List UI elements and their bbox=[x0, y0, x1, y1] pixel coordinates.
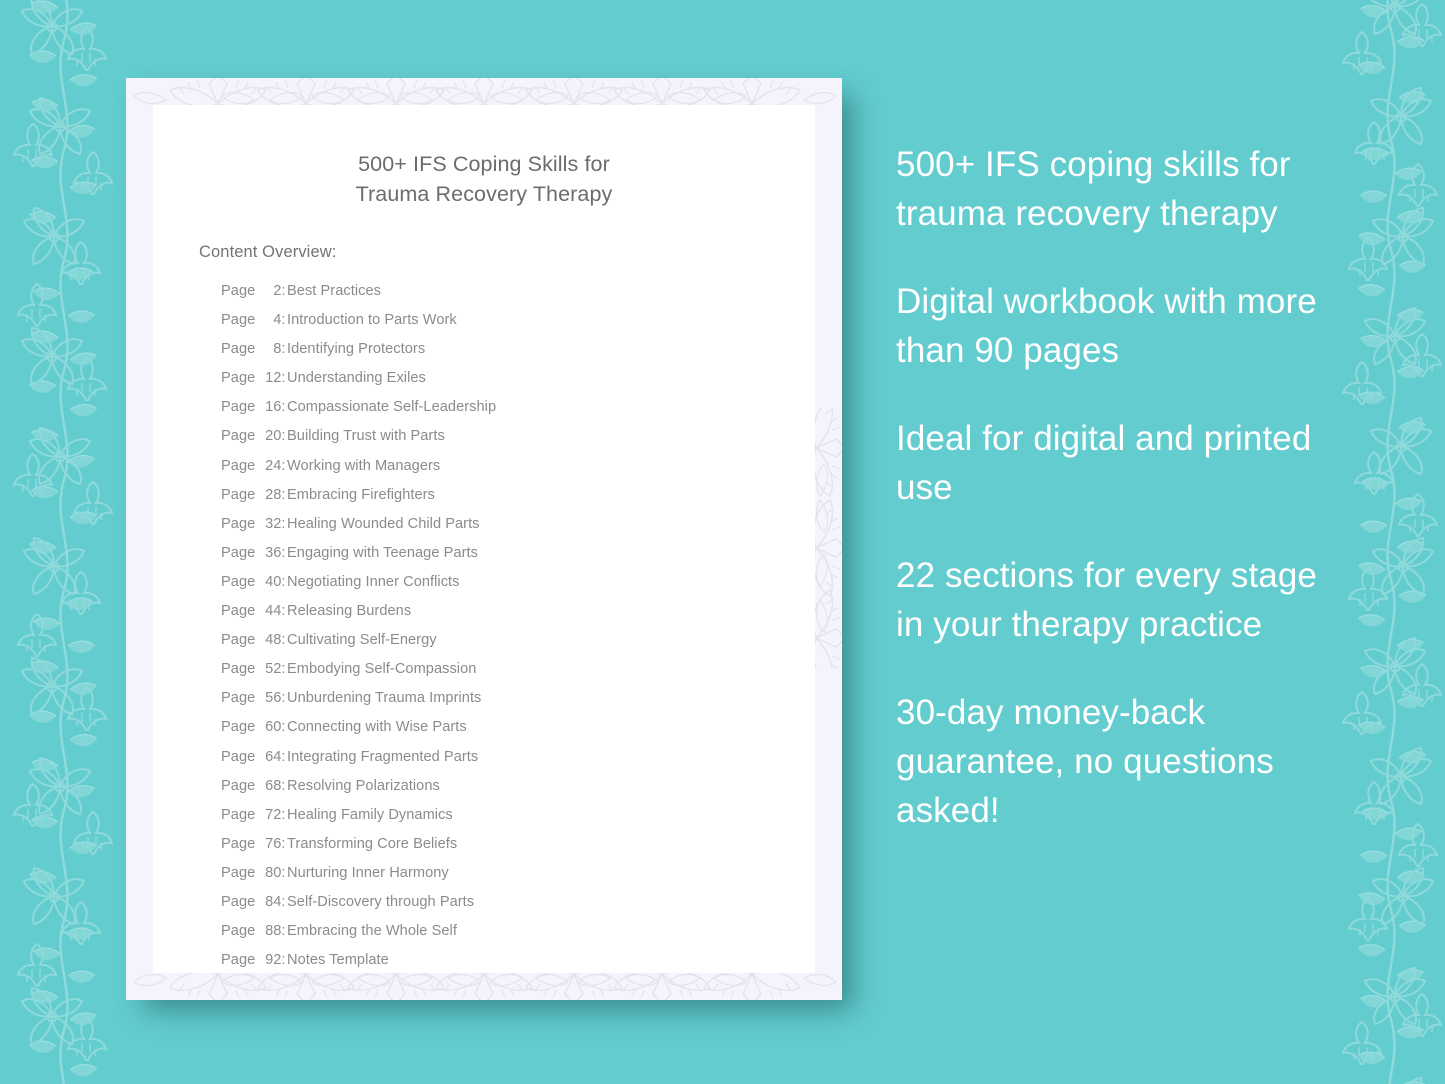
floral-vine-icon-right bbox=[1313, 0, 1445, 1084]
toc-section-title: Releasing Burdens bbox=[287, 603, 795, 619]
table-of-contents-row[interactable]: Page 4:Introduction to Parts Work bbox=[221, 312, 795, 341]
toc-page-value: 56 bbox=[259, 690, 281, 706]
toc-page-number: Page 24: bbox=[221, 458, 287, 474]
toc-page-word: Page bbox=[221, 487, 255, 503]
toc-page-number: Page 64: bbox=[221, 749, 287, 765]
table-of-contents-row[interactable]: Page 60:Connecting with Wise Parts bbox=[221, 719, 795, 748]
table-of-contents-row[interactable]: Page 16:Compassionate Self-Leadership bbox=[221, 399, 795, 428]
toc-page-value: 36 bbox=[259, 545, 281, 561]
toc-section-title: Best Practices bbox=[287, 283, 795, 299]
toc-page-value: 16 bbox=[259, 399, 281, 415]
toc-section-title: Healing Family Dynamics bbox=[287, 807, 795, 823]
toc-page-word: Page bbox=[221, 516, 255, 532]
table-of-contents-row[interactable]: Page 28:Embracing Firefighters bbox=[221, 487, 795, 516]
toc-section-title: Introduction to Parts Work bbox=[287, 312, 795, 328]
toc-section-title: Identifying Protectors bbox=[287, 341, 795, 357]
toc-section-title: Embodying Self-Compassion bbox=[287, 661, 795, 677]
toc-page-number: Page 32: bbox=[221, 516, 287, 532]
toc-section-title: Working with Managers bbox=[287, 458, 795, 474]
toc-page-word: Page bbox=[221, 341, 255, 357]
toc-section-title: Healing Wounded Child Parts bbox=[287, 516, 795, 532]
toc-page-value: 72 bbox=[259, 807, 281, 823]
toc-page-word: Page bbox=[221, 603, 255, 619]
toc-section-title: Unburdening Trauma Imprints bbox=[287, 690, 795, 706]
toc-page-number: Page 56: bbox=[221, 690, 287, 706]
toc-page-number: Page 8: bbox=[221, 341, 287, 357]
toc-section-title: Building Trust with Parts bbox=[287, 428, 795, 444]
marketing-bullet: Ideal for digital and printed use bbox=[896, 414, 1326, 512]
table-of-contents-row[interactable]: Page 2:Best Practices bbox=[221, 283, 795, 312]
table-of-contents-row[interactable]: Page 40:Negotiating Inner Conflicts bbox=[221, 574, 795, 603]
toc-page-value: 44 bbox=[259, 603, 281, 619]
toc-page-word: Page bbox=[221, 690, 255, 706]
document-page: 500+ IFS Coping Skills for Trauma Recove… bbox=[153, 105, 815, 973]
toc-page-word: Page bbox=[221, 807, 255, 823]
toc-page-number: Page 88: bbox=[221, 923, 287, 939]
toc-section-title: Cultivating Self-Energy bbox=[287, 632, 795, 648]
marketing-bullet: 30-day money-back guarantee, no question… bbox=[896, 688, 1326, 835]
toc-page-number: Page 12: bbox=[221, 370, 287, 386]
toc-page-number: Page 76: bbox=[221, 836, 287, 852]
toc-section-title: Transforming Core Beliefs bbox=[287, 836, 795, 852]
table-of-contents-row[interactable]: Page 92:Notes Template bbox=[221, 952, 795, 981]
toc-page-number: Page 72: bbox=[221, 807, 287, 823]
toc-page-value: 12 bbox=[259, 370, 281, 386]
table-of-contents: Page 2:Best PracticesPage 4:Introduction… bbox=[221, 283, 795, 981]
toc-page-number: Page 52: bbox=[221, 661, 287, 677]
toc-page-number: Page 2: bbox=[221, 283, 287, 299]
toc-page-word: Page bbox=[221, 312, 255, 328]
toc-page-word: Page bbox=[221, 719, 255, 735]
mandala-watermark-icon-top bbox=[126, 78, 842, 108]
table-of-contents-row[interactable]: Page 8:Identifying Protectors bbox=[221, 341, 795, 370]
toc-page-number: Page 36: bbox=[221, 545, 287, 561]
content-overview-label: Content Overview: bbox=[199, 243, 336, 262]
table-of-contents-row[interactable]: Page 72:Healing Family Dynamics bbox=[221, 807, 795, 836]
toc-page-word: Page bbox=[221, 952, 255, 968]
toc-page-number: Page 40: bbox=[221, 574, 287, 590]
toc-section-title: Negotiating Inner Conflicts bbox=[287, 574, 795, 590]
toc-page-word: Page bbox=[221, 661, 255, 677]
toc-page-number: Page 84: bbox=[221, 894, 287, 910]
toc-page-word: Page bbox=[221, 865, 255, 881]
table-of-contents-row[interactable]: Page 52:Embodying Self-Compassion bbox=[221, 661, 795, 690]
table-of-contents-row[interactable]: Page 56:Unburdening Trauma Imprints bbox=[221, 690, 795, 719]
toc-page-number: Page 20: bbox=[221, 428, 287, 444]
toc-page-number: Page 60: bbox=[221, 719, 287, 735]
toc-page-number: Page 80: bbox=[221, 865, 287, 881]
table-of-contents-row[interactable]: Page 32:Healing Wounded Child Parts bbox=[221, 516, 795, 545]
toc-page-number: Page 92: bbox=[221, 952, 287, 968]
toc-page-value: 48 bbox=[259, 632, 281, 648]
toc-page-value: 20 bbox=[259, 428, 281, 444]
marketing-bullet: 22 sections for every stage in your ther… bbox=[896, 551, 1326, 649]
toc-page-value: 76 bbox=[259, 836, 281, 852]
table-of-contents-row[interactable]: Page 36:Engaging with Teenage Parts bbox=[221, 545, 795, 574]
marketing-bullet-list: 500+ IFS coping skills for trauma recove… bbox=[896, 140, 1326, 835]
toc-section-title: Self-Discovery through Parts bbox=[287, 894, 795, 910]
toc-page-value: 64 bbox=[259, 749, 281, 765]
toc-section-title: Nurturing Inner Harmony bbox=[287, 865, 795, 881]
toc-section-title: Connecting with Wise Parts bbox=[287, 719, 795, 735]
table-of-contents-row[interactable]: Page 12:Understanding Exiles bbox=[221, 370, 795, 399]
toc-page-word: Page bbox=[221, 428, 255, 444]
toc-page-word: Page bbox=[221, 923, 255, 939]
toc-page-word: Page bbox=[221, 749, 255, 765]
toc-section-title: Resolving Polarizations bbox=[287, 778, 795, 794]
table-of-contents-row[interactable]: Page 68:Resolving Polarizations bbox=[221, 778, 795, 807]
toc-page-word: Page bbox=[221, 399, 255, 415]
table-of-contents-row[interactable]: Page 64:Integrating Fragmented Parts bbox=[221, 749, 795, 778]
toc-page-word: Page bbox=[221, 574, 255, 590]
toc-section-title: Notes Template bbox=[287, 952, 795, 968]
toc-page-value: 88 bbox=[259, 923, 281, 939]
toc-page-number: Page 28: bbox=[221, 487, 287, 503]
toc-page-word: Page bbox=[221, 370, 255, 386]
toc-page-value: 2 bbox=[259, 283, 281, 299]
toc-page-word: Page bbox=[221, 283, 255, 299]
page-title: 500+ IFS Coping Skills for Trauma Recove… bbox=[153, 150, 815, 209]
table-of-contents-row[interactable]: Page 76:Transforming Core Beliefs bbox=[221, 836, 795, 865]
table-of-contents-row[interactable]: Page 88:Embracing the Whole Self bbox=[221, 923, 795, 952]
toc-page-value: 8 bbox=[259, 341, 281, 357]
toc-page-word: Page bbox=[221, 836, 255, 852]
table-of-contents-row[interactable]: Page 24:Working with Managers bbox=[221, 458, 795, 487]
toc-page-number: Page 68: bbox=[221, 778, 287, 794]
toc-page-value: 80 bbox=[259, 865, 281, 881]
floral-vine-icon-left bbox=[2, 0, 142, 1084]
toc-page-value: 40 bbox=[259, 574, 281, 590]
toc-page-word: Page bbox=[221, 894, 255, 910]
toc-page-word: Page bbox=[221, 545, 255, 561]
poster-canvas: 500+ IFS Coping Skills for Trauma Recove… bbox=[0, 0, 1445, 1084]
toc-section-title: Understanding Exiles bbox=[287, 370, 795, 386]
toc-page-value: 92 bbox=[259, 952, 281, 968]
toc-section-title: Embracing Firefighters bbox=[287, 487, 795, 503]
toc-page-number: Page 4: bbox=[221, 312, 287, 328]
table-of-contents-row[interactable]: Page 44:Releasing Burdens bbox=[221, 603, 795, 632]
toc-page-value: 60 bbox=[259, 719, 281, 735]
toc-page-number: Page 16: bbox=[221, 399, 287, 415]
toc-page-word: Page bbox=[221, 458, 255, 474]
toc-page-value: 84 bbox=[259, 894, 281, 910]
toc-page-value: 68 bbox=[259, 778, 281, 794]
document-card: 500+ IFS Coping Skills for Trauma Recove… bbox=[126, 78, 842, 1000]
mandala-watermark-icon-right bbox=[812, 408, 842, 668]
toc-section-title: Integrating Fragmented Parts bbox=[287, 749, 795, 765]
marketing-bullet: Digital workbook with more than 90 pages bbox=[896, 277, 1326, 375]
toc-section-title: Embracing the Whole Self bbox=[287, 923, 795, 939]
toc-page-word: Page bbox=[221, 632, 255, 648]
toc-section-title: Engaging with Teenage Parts bbox=[287, 545, 795, 561]
toc-page-value: 28 bbox=[259, 487, 281, 503]
toc-page-value: 52 bbox=[259, 661, 281, 677]
toc-page-number: Page 48: bbox=[221, 632, 287, 648]
toc-page-word: Page bbox=[221, 778, 255, 794]
marketing-bullet: 500+ IFS coping skills for trauma recove… bbox=[896, 140, 1326, 238]
toc-page-number: Page 44: bbox=[221, 603, 287, 619]
table-of-contents-row[interactable]: Page 80:Nurturing Inner Harmony bbox=[221, 865, 795, 894]
toc-page-value: 32 bbox=[259, 516, 281, 532]
toc-page-value: 24 bbox=[259, 458, 281, 474]
toc-section-title: Compassionate Self-Leadership bbox=[287, 399, 795, 415]
table-of-contents-row[interactable]: Page 20:Building Trust with Parts bbox=[221, 428, 795, 457]
toc-page-value: 4 bbox=[259, 312, 281, 328]
table-of-contents-row[interactable]: Page 84:Self-Discovery through Parts bbox=[221, 894, 795, 923]
table-of-contents-row[interactable]: Page 48:Cultivating Self-Energy bbox=[221, 632, 795, 661]
